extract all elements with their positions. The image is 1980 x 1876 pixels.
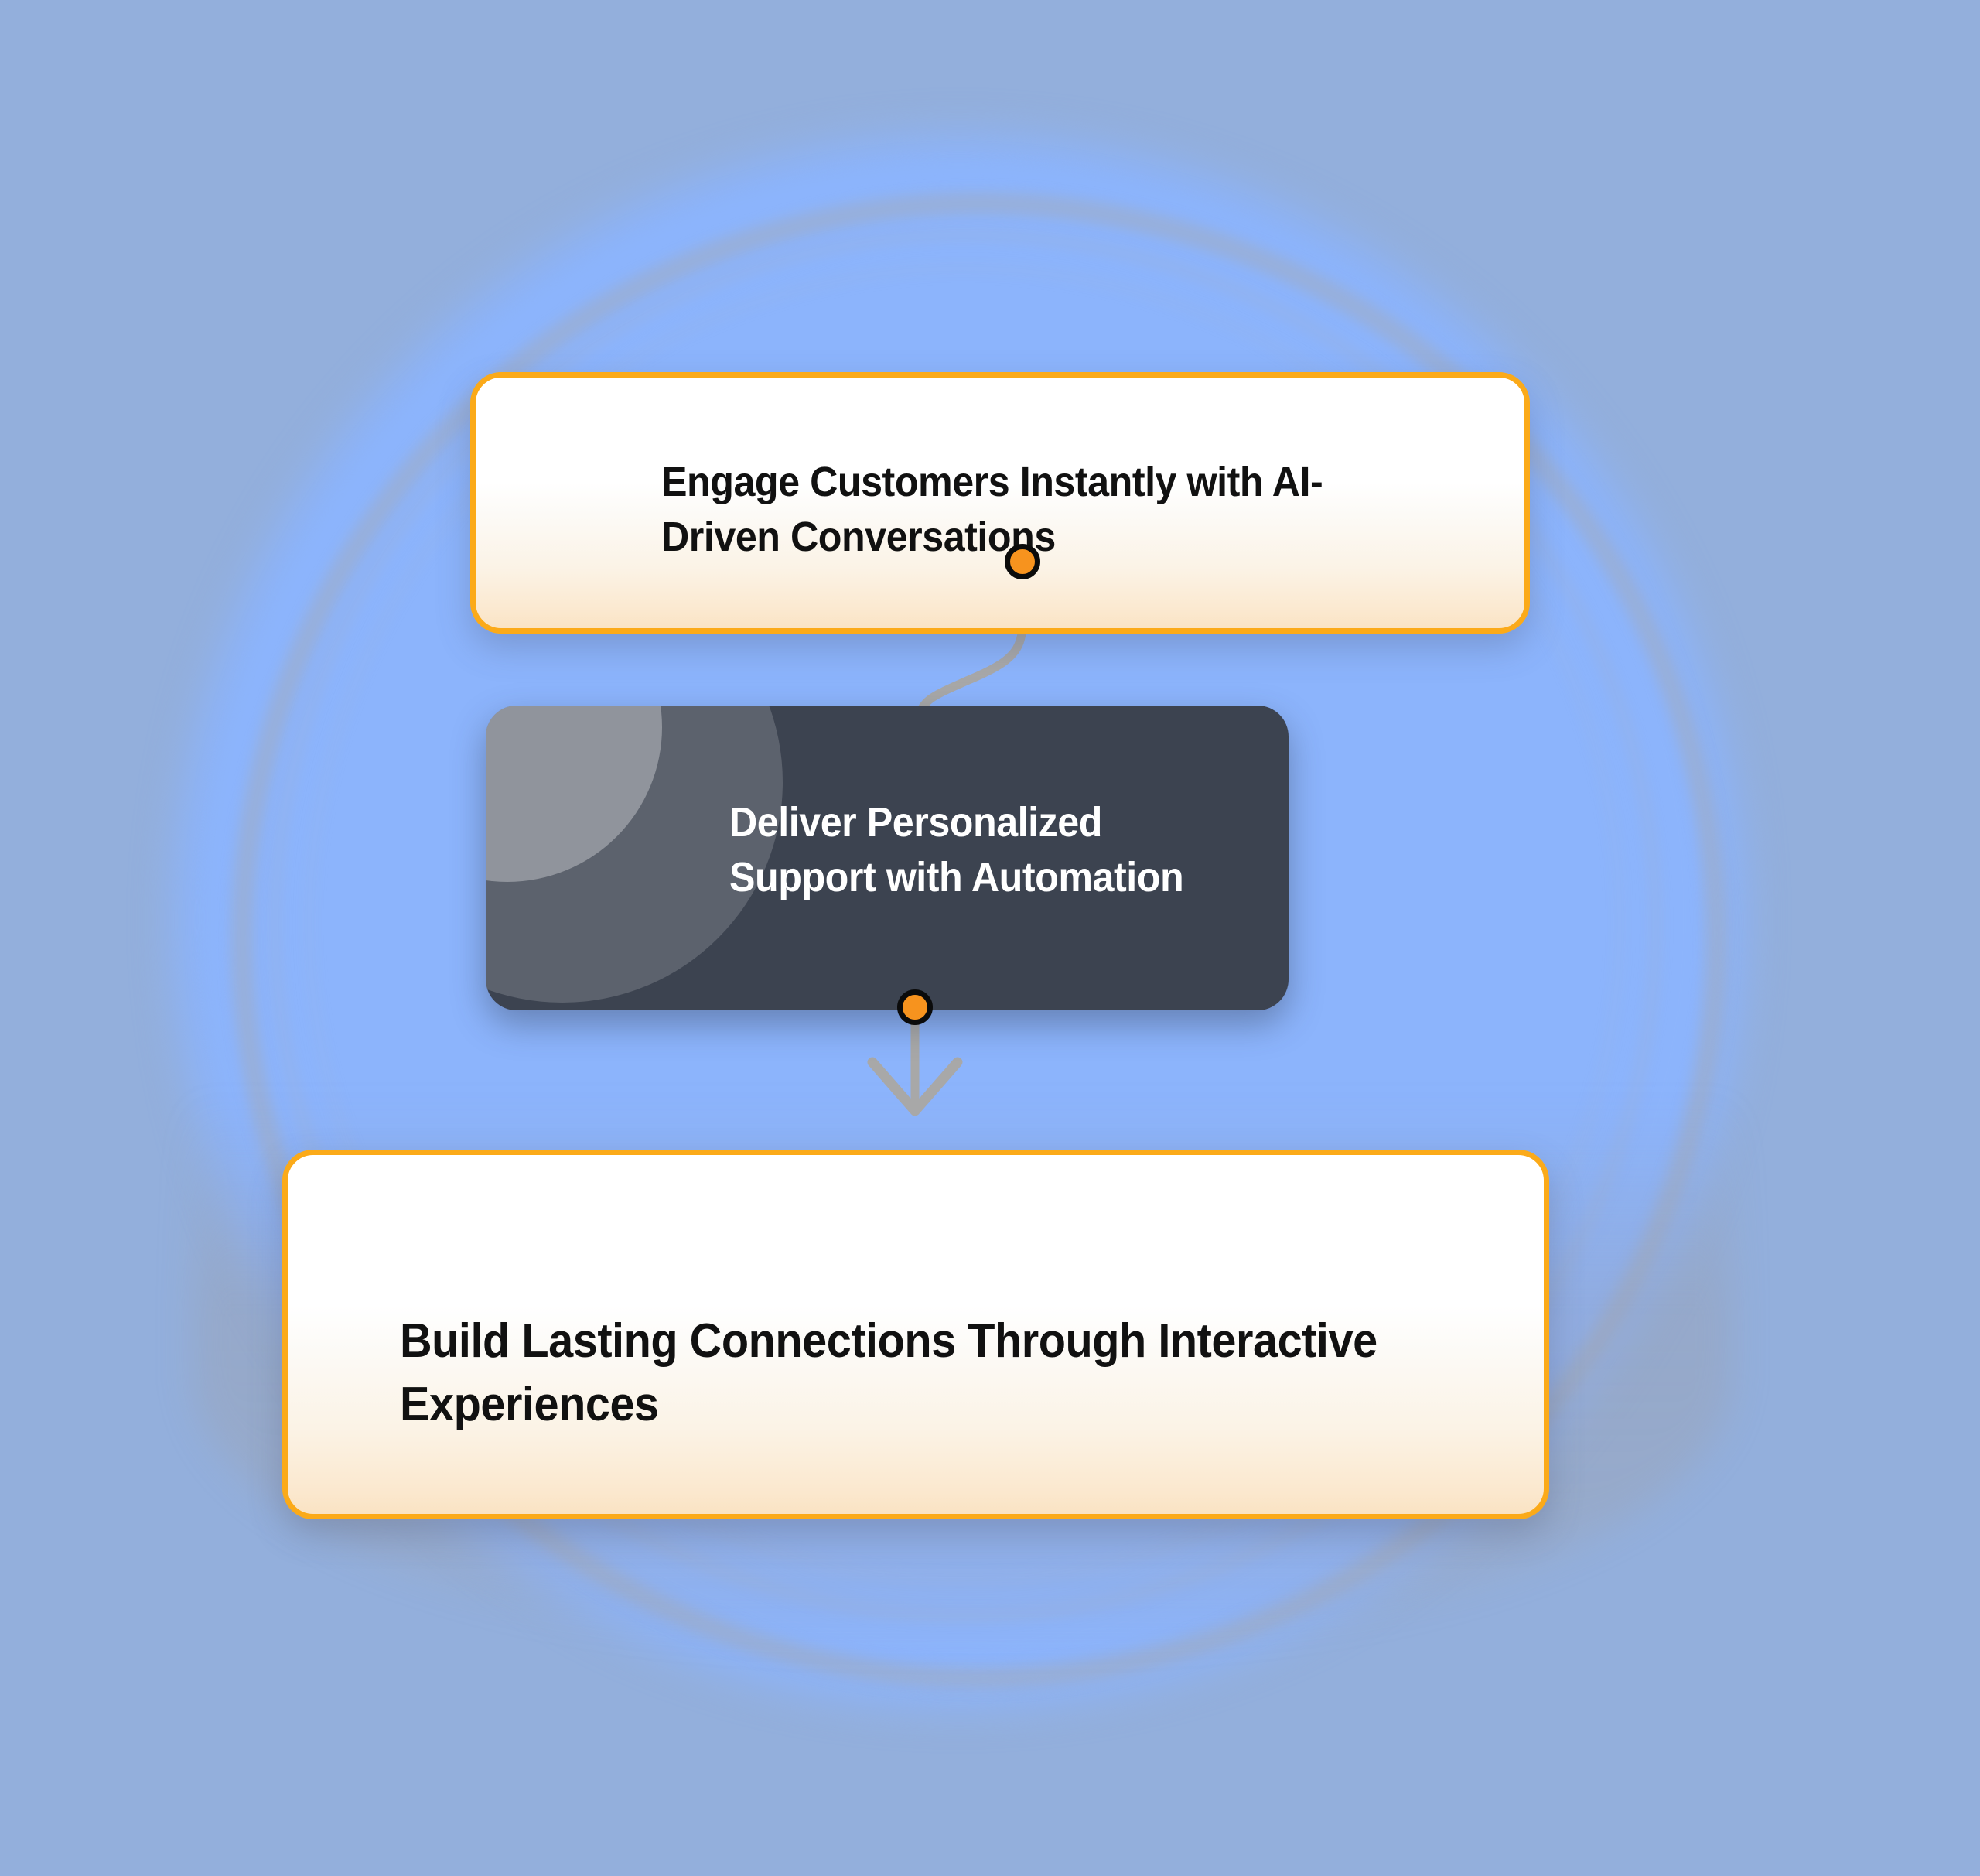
connector-node-icon-1[interactable] [1005, 544, 1040, 579]
flow-step-card-2[interactable]: Deliver Personalized Support with Automa… [486, 706, 1289, 1010]
flow-step-title-2: Deliver Personalized Support with Automa… [729, 795, 1233, 906]
flow-step-card-3[interactable]: Build Lasting Connections Through Intera… [282, 1150, 1549, 1519]
connector-node-icon-2[interactable] [897, 989, 933, 1025]
flow-step-card-1[interactable]: Engage Customers Instantly with AI-Drive… [470, 372, 1530, 634]
diagram-canvas: Engage Customers Instantly with AI-Drive… [0, 0, 1980, 1876]
flow-step-title-3: Build Lasting Connections Through Intera… [400, 1310, 1422, 1437]
